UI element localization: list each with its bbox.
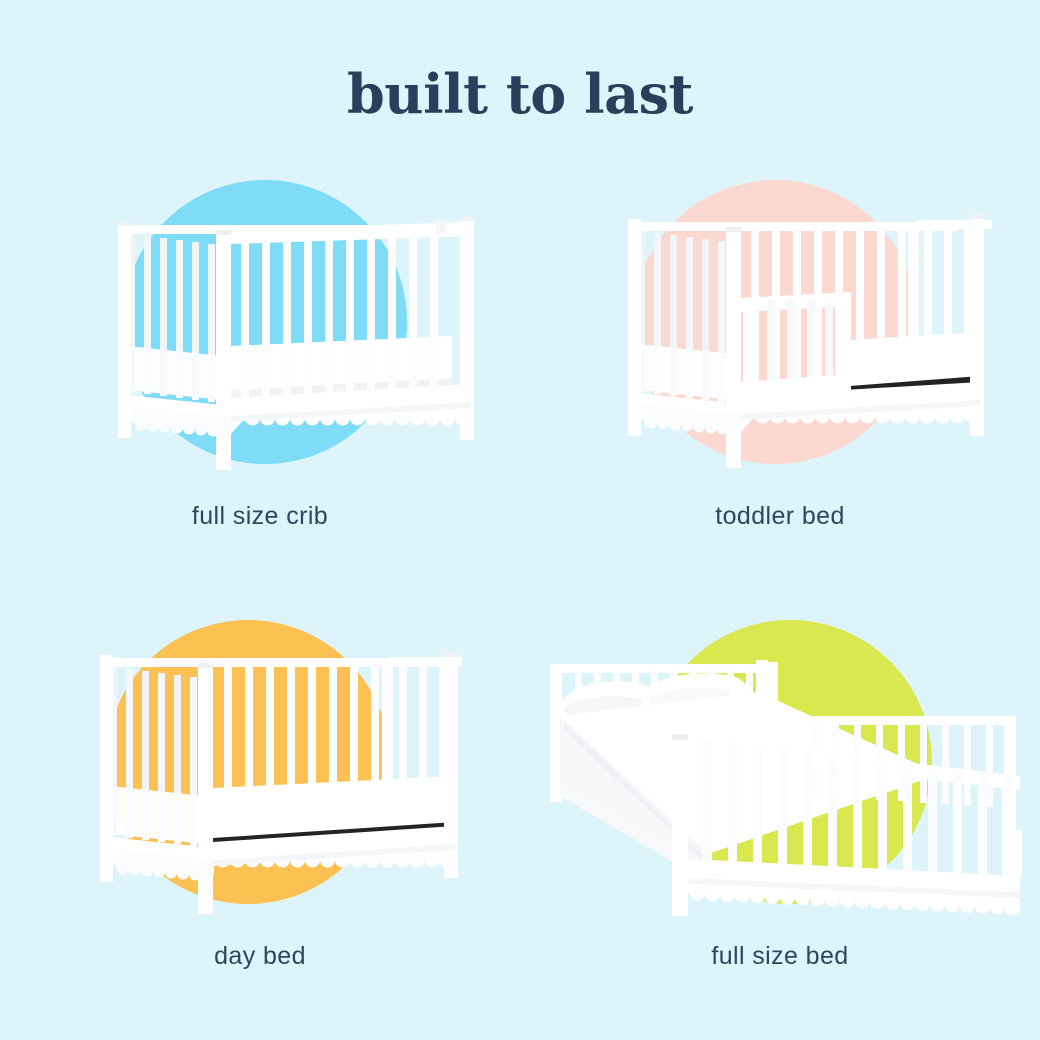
toddler-bed-svg (520, 150, 1040, 500)
illustration-full-size-crib (0, 150, 520, 500)
poster-canvas: built to last (0, 0, 1040, 1040)
illustration-full-size-bed (520, 590, 1040, 940)
grid-item-toddler-bed[interactable]: toddler bed (520, 150, 1040, 590)
product-grid: full size crib (0, 150, 1040, 1030)
caption-full-size-crib: full size crib (0, 502, 520, 531)
caption-full-size-bed: full size bed (520, 942, 1040, 971)
grid-item-day-bed[interactable]: day bed (0, 590, 520, 1030)
day-bed-svg (0, 590, 520, 940)
caption-day-bed: day bed (0, 942, 520, 971)
grid-item-full-size-bed[interactable]: full size bed (520, 590, 1040, 1030)
illustration-day-bed (0, 590, 520, 940)
full-size-crib-svg (0, 150, 520, 500)
grid-item-full-size-crib[interactable]: full size crib (0, 150, 520, 590)
caption-toddler-bed: toddler bed (520, 502, 1040, 531)
illustration-toddler-bed (520, 150, 1040, 500)
page-title: built to last (0, 62, 1040, 126)
full-size-bed-svg (520, 590, 1040, 940)
right-open-slats (399, 662, 447, 783)
